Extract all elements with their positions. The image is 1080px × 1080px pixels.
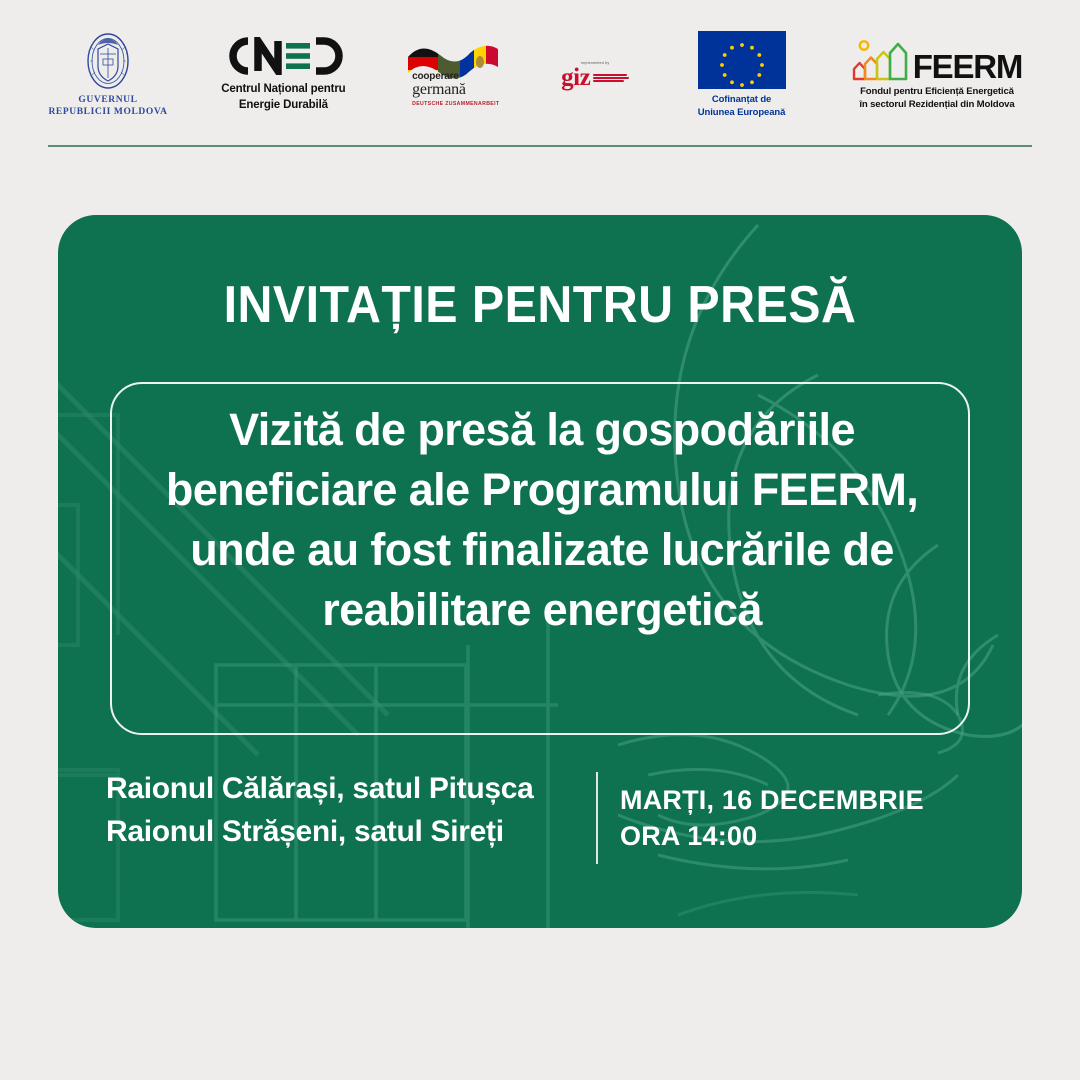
- ger-line2: germană: [412, 82, 499, 99]
- location-line-1: Raionul Călărași, satul Pitușca: [106, 768, 586, 811]
- logo-guvernul-moldova: GUVERNUL REPUBLICII MOLDOVA: [48, 32, 168, 119]
- eu-flag-icon: [698, 31, 786, 89]
- event-date: MARȚI, 16 DECEMBRIE: [620, 782, 1000, 818]
- card-content: INVITAȚIE PENTRU PRESĂ Vizită de presă l…: [58, 215, 1022, 928]
- feerm-houses-icon: [852, 39, 908, 81]
- location-line-2: Raionul Strășeni, satul Sireți: [106, 811, 586, 854]
- cned-wordmark-icon: [216, 36, 351, 76]
- feerm-line1: Fondul pentru Eficiență Energetică: [859, 86, 1014, 99]
- cooperare-germana-text: cooperare germană DEUTSCHE ZUSAMMENARBEI…: [408, 71, 499, 107]
- giz-wordmark: giz: [561, 67, 590, 88]
- eu-line1: Cofinanțat de: [698, 94, 786, 106]
- feerm-subtitle: Fondul pentru Eficiență Energetică în se…: [859, 86, 1014, 112]
- cned-line2: Energie Durabilă: [221, 98, 345, 114]
- page-title: INVITAȚIE PENTRU PRESĂ: [92, 275, 989, 335]
- header-divider: [48, 145, 1032, 147]
- gov-logo-line2: REPUBLICII MOLDOVA: [48, 107, 167, 119]
- gov-logo-line1: GUVERNUL: [78, 95, 137, 107]
- card-footer: Raionul Călărași, satul Pitușca Raionul …: [58, 768, 1022, 878]
- giz-strapline-lines: [593, 74, 629, 82]
- footer-vertical-divider: [596, 772, 598, 864]
- body-text: Vizită de presă la gospodăriile benefici…: [132, 400, 952, 639]
- ger-line3: DEUTSCHE ZUSAMMENARBEIT: [412, 101, 499, 107]
- logo-row: GUVERNUL REPUBLICII MOLDOVA: [48, 20, 1032, 130]
- eu-line2: Uniunea Europeană: [698, 107, 786, 119]
- feerm-line2: în sectorul Rezidențial din Moldova: [859, 99, 1014, 112]
- logo-feerm: FEERM Fondul pentru Eficiență Energetică…: [842, 39, 1032, 112]
- logo-giz: Implemented by giz: [549, 61, 641, 88]
- eu-logo-text: Cofinanțat de Uniunea Europeană: [698, 94, 786, 119]
- feerm-top-row: FEERM: [852, 39, 1023, 81]
- locations-block: Raionul Călărași, satul Pitușca Raionul …: [106, 768, 586, 853]
- cned-logo-text: Centrul Național pentru Energie Durabilă: [221, 82, 345, 113]
- body-highlight-box: Vizită de presă la gospodăriile benefici…: [110, 382, 970, 735]
- logo-uniunea-europeana: Cofinanțat de Uniunea Europeană: [682, 31, 802, 119]
- invitation-card: INVITAȚIE PENTRU PRESĂ Vizită de presă l…: [58, 215, 1022, 928]
- logo-cooperare-germana: cooperare germană DEUTSCHE ZUSAMMENARBEI…: [399, 43, 509, 107]
- feerm-wordmark: FEERM: [913, 53, 1023, 81]
- event-time: ORA 14:00: [620, 818, 1000, 854]
- header-logo-strip: GUVERNUL REPUBLICII MOLDOVA: [0, 0, 1080, 145]
- cned-line1: Centrul Național pentru: [221, 82, 345, 98]
- datetime-block: MARȚI, 16 DECEMBRIE ORA 14:00: [620, 782, 1000, 855]
- moldova-coat-of-arms-icon: [85, 32, 131, 90]
- logo-cned: Centrul Național pentru Energie Durabilă: [208, 36, 358, 113]
- giz-logo-icon: giz: [561, 67, 629, 88]
